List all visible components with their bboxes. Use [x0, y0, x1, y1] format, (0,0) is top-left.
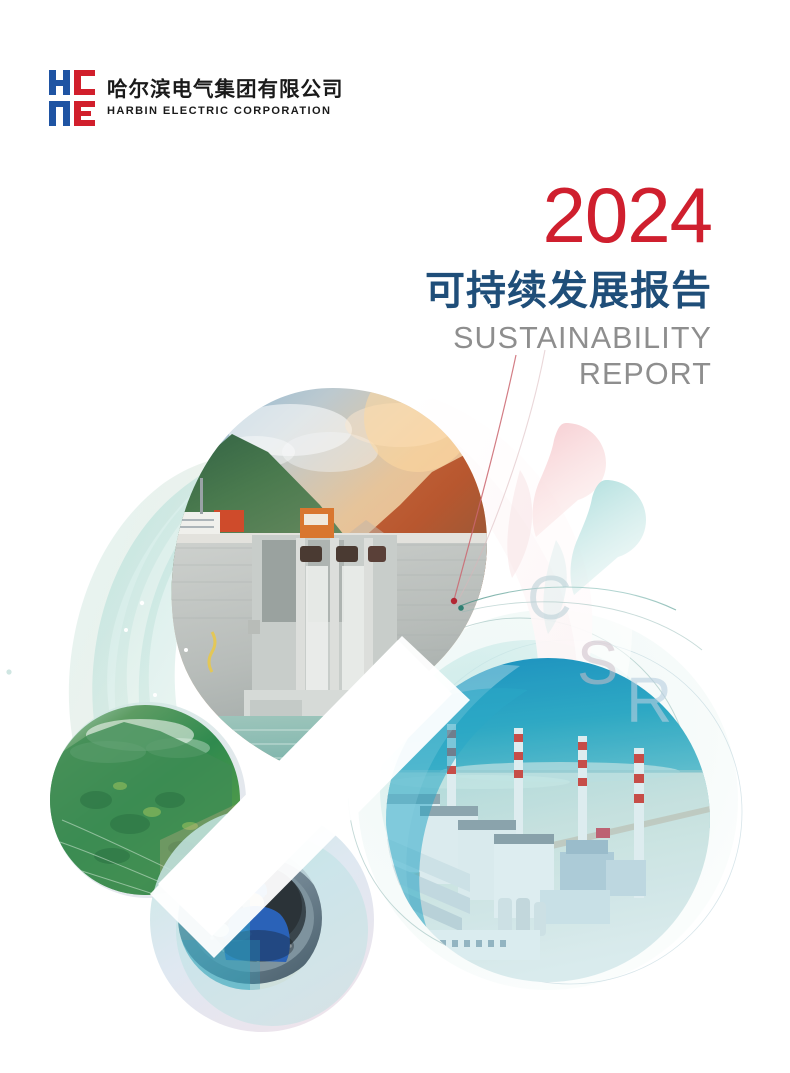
accent-arc-lines — [6, 350, 702, 704]
report-year: 2024 — [425, 178, 712, 252]
watermark-letter-s: S — [577, 628, 618, 699]
company-name-cn: 哈尔滨电气集团有限公司 — [107, 79, 344, 100]
bottom-pastel-disc — [150, 808, 374, 1032]
report-title-cn: 可持续发展报告 — [425, 268, 712, 315]
company-name-en: HARBIN ELECTRIC CORPORATION — [107, 106, 336, 117]
company-logo: 哈尔滨电气集团有限公司 HARBIN ELECTRIC CORPORATION — [49, 70, 344, 126]
power-plant-photo — [382, 658, 710, 984]
white-diagonal-divider — [150, 636, 470, 958]
cover-title-block: 2024 可持续发展报告 SUSTAINABILITY REPORT — [425, 178, 712, 394]
logo-wordmark: 哈尔滨电气集团有限公司 HARBIN ELECTRIC CORPORATION — [107, 79, 344, 117]
petal-shapes — [507, 423, 646, 634]
report-title-en-line1: SUSTAINABILITY — [425, 321, 712, 355]
teal-wave-overlay — [379, 665, 528, 932]
worker-turbine-photo — [176, 844, 326, 994]
hydropower-dam-photo — [150, 364, 500, 796]
swoosh-shapes-right — [372, 386, 632, 812]
report-title-en-line2: REPORT — [425, 355, 712, 394]
cover-artwork — [0, 0, 790, 1073]
green-forest-mountain-photo — [50, 702, 246, 906]
harbin-electric-logo-mark — [49, 70, 95, 126]
watermark-letter-c: C — [527, 563, 572, 634]
decorative-rings — [348, 610, 742, 990]
swoosh-shapes-left — [69, 436, 314, 900]
watermark-letter-r: R — [626, 663, 672, 737]
report-cover-page: 哈尔滨电气集团有限公司 HARBIN ELECTRIC CORPORATION … — [0, 0, 790, 1073]
